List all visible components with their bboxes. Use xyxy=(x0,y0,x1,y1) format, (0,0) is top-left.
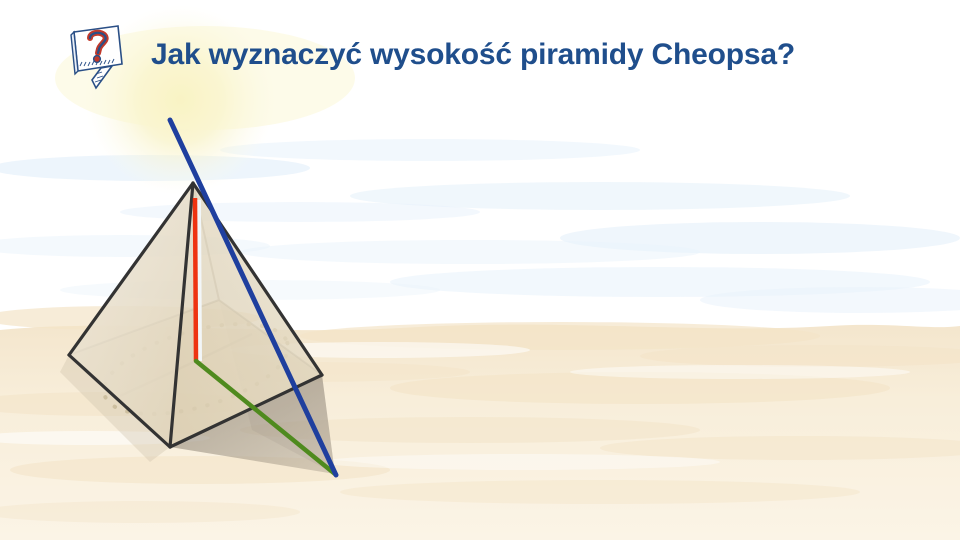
pyramid-height-line xyxy=(195,198,196,361)
pyramid-diagram xyxy=(0,0,960,540)
height-line-backing xyxy=(199,200,200,361)
slide-canvas: Jak wyznaczyć wysokość piramidy Cheopsa? xyxy=(0,0,960,540)
